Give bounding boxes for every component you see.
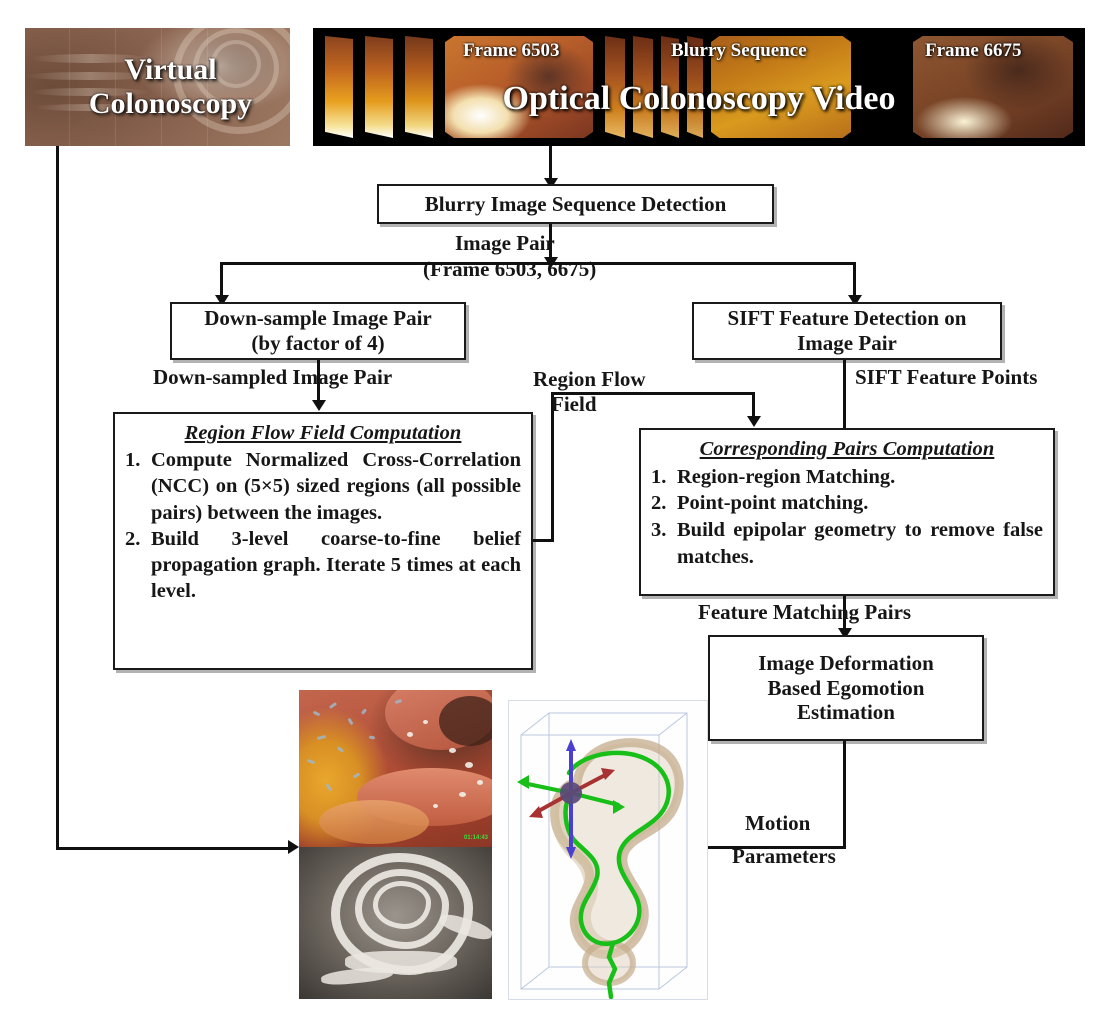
edge-label-region-flow-field-line1: Region Flow	[533, 368, 646, 392]
edge-sift-to-corrpairs	[843, 360, 846, 428]
optical-colonoscopy-title: Optical Colonoscopy Video	[313, 80, 1085, 118]
list-item-number: 2.	[125, 526, 151, 605]
downsample-line1: Down-sample Image Pair	[178, 306, 458, 331]
list-item-number: 2.	[651, 490, 677, 517]
region-flow-list: 1. Compute Normalized Cross-Correlation …	[125, 447, 521, 604]
arrowhead-down	[312, 400, 326, 411]
feature-marker	[369, 736, 375, 740]
list-item-number: 1.	[651, 464, 677, 491]
edge-label-feature-matching-pairs: Feature Matching Pairs	[698, 601, 911, 625]
list-item-text: Region-region Matching.	[677, 464, 1043, 491]
specular-highlight	[465, 762, 473, 768]
downsample-line2: (by factor of 4)	[178, 331, 458, 356]
sift-line1: SIFT Feature Detection on	[700, 306, 994, 331]
optical-colonoscopy-result-image: 01:14:43	[299, 690, 492, 847]
node-sift-feature-detection[interactable]: SIFT Feature Detection on Image Pair	[692, 302, 1002, 360]
edge-label-down-sampled-image-pair: Down-sampled Image Pair	[153, 366, 392, 390]
egomotion-line1: Image Deformation	[716, 651, 976, 676]
feature-marker	[337, 746, 344, 753]
edge-oc-to-blurry	[549, 146, 552, 182]
feature-marker	[329, 702, 337, 709]
node-region-flow-field-computation[interactable]: Region Flow Field Computation 1. Compute…	[113, 412, 533, 670]
feature-marker	[347, 718, 353, 726]
optical-frame-timestamp-label: 01:14:43	[464, 835, 488, 841]
list-item: 1. Region-region Matching.	[651, 464, 1043, 491]
node-corresponding-pairs-computation[interactable]: Corresponding Pairs Computation 1. Regio…	[639, 428, 1055, 596]
optical-colonoscopy-banner: Frame 6503 Blurry Sequence Frame 6675 Op…	[313, 28, 1085, 146]
list-item-text: Point-point matching.	[677, 490, 1043, 517]
region-flow-title: Region Flow Field Computation	[125, 420, 521, 446]
sift-line2: Image Pair	[700, 331, 994, 356]
specular-highlight	[449, 748, 456, 753]
corresponding-pairs-title: Corresponding Pairs Computation	[651, 436, 1043, 463]
lumen-shadow	[439, 696, 492, 746]
frame-6675-label: Frame 6675	[925, 40, 1022, 62]
feature-marker	[353, 772, 361, 778]
vc-title-line1: Virtual	[51, 53, 290, 87]
corresponding-pairs-list: 1. Region-region Matching. 2. Point-poin…	[651, 464, 1043, 571]
frame-6503-label: Frame 6503	[463, 40, 560, 62]
feature-marker	[325, 783, 332, 791]
virtual-colonoscopy-result-image	[299, 847, 492, 999]
edge-egomotion-down	[843, 741, 846, 849]
list-item-text: Build 3-level coarse-to-fine belief prop…	[151, 526, 521, 605]
feature-marker	[361, 708, 367, 715]
edge-label-region-flow-field-line2: Field	[551, 393, 597, 417]
feature-marker	[313, 711, 321, 717]
node-label: Blurry Image Sequence Detection	[379, 190, 772, 219]
edge-split-bar	[220, 262, 856, 265]
list-item: 2. Point-point matching.	[651, 490, 1043, 517]
list-item-number: 1.	[125, 447, 151, 526]
edge-vc-down-rail	[56, 146, 59, 850]
specular-highlight	[433, 804, 438, 808]
feature-marker	[317, 735, 326, 740]
figure-canvas: Virtual Colonoscopy Frame 6503 Blurry Se…	[0, 0, 1099, 1016]
node-image-deformation-egomotion-estimation[interactable]: Image Deformation Based Egomotion Estima…	[708, 635, 984, 741]
haustral-ring-inner	[373, 881, 431, 929]
node-blurry-image-sequence-detection[interactable]: Blurry Image Sequence Detection	[377, 184, 774, 224]
specular-highlight	[477, 780, 483, 785]
vc-title-line2: Colonoscopy	[51, 87, 290, 121]
list-item: 2. Build 3-level coarse-to-fine belief p…	[125, 526, 521, 605]
specular-highlight	[423, 720, 428, 724]
blurry-sequence-label: Blurry Sequence	[671, 40, 807, 62]
specular-highlight	[407, 732, 413, 737]
haustral-fold	[320, 965, 393, 986]
arrowhead-right	[288, 840, 299, 854]
specular-highlight	[459, 792, 466, 797]
virtual-colonoscopy-title: Virtual Colonoscopy	[25, 53, 290, 121]
node-down-sample-image-pair[interactable]: Down-sample Image Pair (by factor of 4)	[170, 302, 466, 360]
egomotion-line2: Based Egomotion	[716, 676, 976, 701]
list-item: 3. Build epipolar geometry to remove fal…	[651, 517, 1043, 570]
edge-label-motion-parameters-line1: Motion	[745, 812, 810, 836]
list-item-number: 3.	[651, 517, 677, 570]
mucosa-fold	[319, 800, 429, 844]
colon-centerline-3d-view: No. 64	[508, 700, 708, 1000]
edge-label-motion-parameters-line2: Parameters	[732, 845, 836, 869]
feature-marker	[307, 759, 316, 765]
edge-vc-across-rail	[56, 847, 291, 850]
virtual-colonoscopy-banner: Virtual Colonoscopy	[25, 28, 290, 146]
colon-3d-svg	[509, 701, 708, 1000]
list-item: 1. Compute Normalized Cross-Correlation …	[125, 447, 521, 526]
egomotion-line3: Estimation	[716, 700, 976, 725]
list-item-text: Build epipolar geometry to remove false …	[677, 517, 1043, 570]
edge-label-sift-feature-points: SIFT Feature Points	[855, 366, 1037, 390]
edge-label-image-pair-line1: Image Pair	[455, 232, 555, 256]
arrowhead-down	[747, 416, 761, 427]
list-item-text: Compute Normalized Cross-Correlation (NC…	[151, 447, 521, 526]
